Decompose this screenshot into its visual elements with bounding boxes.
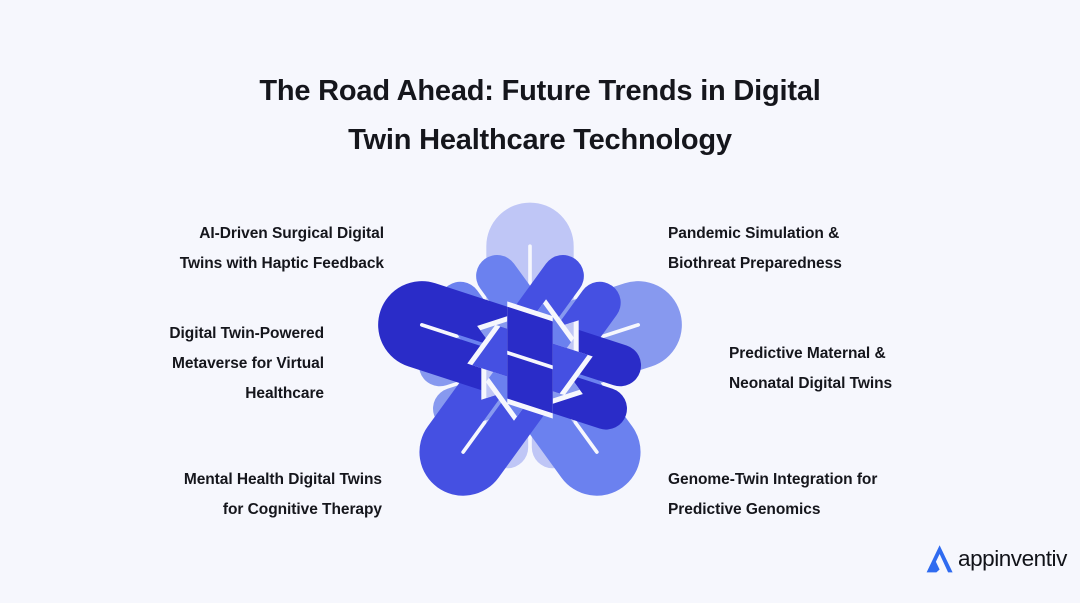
trend-label-predictive-maternal: Predictive Maternal & Neonatal Digital T… bbox=[729, 339, 892, 399]
appinventiv-a-mark-icon bbox=[925, 543, 955, 575]
five-fold-interlocking-loop-graphic bbox=[332, 178, 728, 542]
appinventiv-logo: appinventiv bbox=[925, 543, 1067, 575]
slide-canvas: The Road Ahead: Future Trends in Digital… bbox=[0, 0, 1080, 603]
trend-label-metaverse-virtual-healthcare: Digital Twin-Powered Metaverse for Virtu… bbox=[169, 319, 324, 408]
trend-line: Predictive Maternal & bbox=[729, 339, 892, 369]
page-title-line-2: Twin Healthcare Technology bbox=[0, 116, 1080, 165]
page-title: The Road Ahead: Future Trends in Digital… bbox=[0, 67, 1080, 164]
appinventiv-wordmark: appinventiv bbox=[958, 548, 1067, 571]
trend-line: Metaverse for Virtual bbox=[169, 349, 324, 379]
trend-line: Healthcare bbox=[169, 379, 324, 409]
trend-line: Digital Twin-Powered bbox=[169, 319, 324, 349]
trend-line: Neonatal Digital Twins bbox=[729, 369, 892, 399]
page-title-line-1: The Road Ahead: Future Trends in Digital bbox=[0, 67, 1080, 116]
